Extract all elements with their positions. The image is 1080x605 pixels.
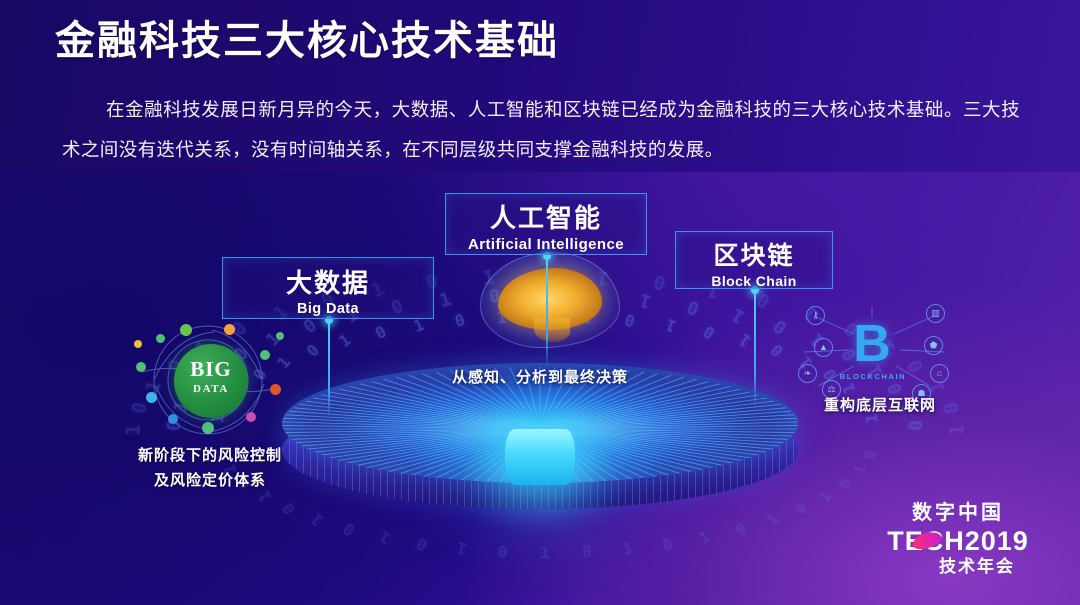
card-big-data-cn: 大数据 (223, 263, 433, 300)
leaf-icon: ❧ (798, 364, 817, 383)
logo-line-digital-china: 数字中国 (870, 501, 1046, 525)
shield-icon: ⬟ (924, 336, 943, 355)
card-artificial-intelligence[interactable]: 人工智能 Artificial Intelligence (445, 193, 647, 255)
slide-header: 金融科技三大核心技术基础 在金融科技发展日新月异的今天，大数据、人工智能和区块链… (0, 0, 1080, 172)
blockchain-icon-cluster: B BLOCKCHAIN ▥ ⚷ ▲ ⬟ ❧ ⌂ ⚖ ☗ (792, 300, 954, 404)
connector-stem-ai (546, 256, 548, 368)
disc-core-pillar (505, 429, 575, 485)
cluster-node-icon (168, 414, 178, 424)
logo-line-annual-conference: 技术年会 (908, 556, 1046, 578)
cluster-node-icon (202, 422, 214, 434)
big-data-badge-line1: BIG (174, 357, 248, 382)
bank-icon: ▲ (814, 338, 833, 357)
connector-stem-bigdata (328, 320, 330, 418)
connector-stem-blockchain (754, 290, 756, 408)
big-data-badge-line2: DATA (174, 383, 248, 395)
page-title: 金融科技三大核心技术基础 (55, 16, 559, 66)
chart-icon: ▥ (926, 304, 945, 323)
cluster-node-icon (276, 332, 284, 340)
cluster-node-icon (136, 362, 146, 372)
card-ai-en: Artificial Intelligence (446, 236, 646, 253)
logo-wordmark-text: TECH2019 (887, 526, 1029, 556)
card-block-chain[interactable]: 区块链 Block Chain (675, 231, 833, 289)
cluster-node-icon (270, 384, 281, 395)
key-icon: ⚷ (806, 306, 825, 325)
brain-stem (534, 318, 570, 342)
logo-wordmark-tech2019: TECH2019 (870, 526, 1046, 556)
card-block-chain-cn: 区块链 (676, 236, 832, 272)
card-big-data[interactable]: 大数据 Big Data (222, 257, 434, 319)
presentation-slide: 金融科技三大核心技术基础 在金融科技发展日新月异的今天，大数据、人工智能和区块链… (0, 0, 1080, 605)
big-data-icon-cluster: BIG DATA (128, 318, 288, 440)
cluster-node-icon (260, 350, 270, 360)
caption-big-data: 新阶段下的风险控制 及风险定价体系 (110, 443, 310, 493)
cluster-node-icon (224, 324, 235, 335)
big-data-badge: BIG DATA (174, 344, 248, 418)
slide-paragraph: 在金融科技发展日新月异的今天，大数据、人工智能和区块链已经成为金融科技的三大核心… (62, 90, 1020, 170)
cluster-node-icon (134, 340, 142, 348)
cluster-node-icon (156, 334, 165, 343)
cluster-node-icon (180, 324, 192, 336)
caption-ai: 从感知、分析到最终决策 (420, 366, 660, 387)
caption-big-data-line2: 及风险定价体系 (110, 468, 310, 493)
caption-big-data-line1: 新阶段下的风险控制 (110, 443, 310, 468)
event-logo: 数字中国 TECH2019 技术年会 (870, 501, 1046, 587)
cluster-node-icon (246, 412, 256, 422)
card-block-chain-en: Block Chain (676, 273, 832, 289)
brain-illustration (480, 252, 620, 348)
card-big-data-en: Big Data (223, 301, 433, 317)
caption-blockchain: 重构底层互联网 (790, 394, 970, 415)
card-ai-cn: 人工智能 (446, 198, 646, 235)
home-icon: ⌂ (930, 364, 949, 383)
bitcoin-b-symbol: B (844, 314, 900, 376)
cluster-node-icon (146, 392, 157, 403)
